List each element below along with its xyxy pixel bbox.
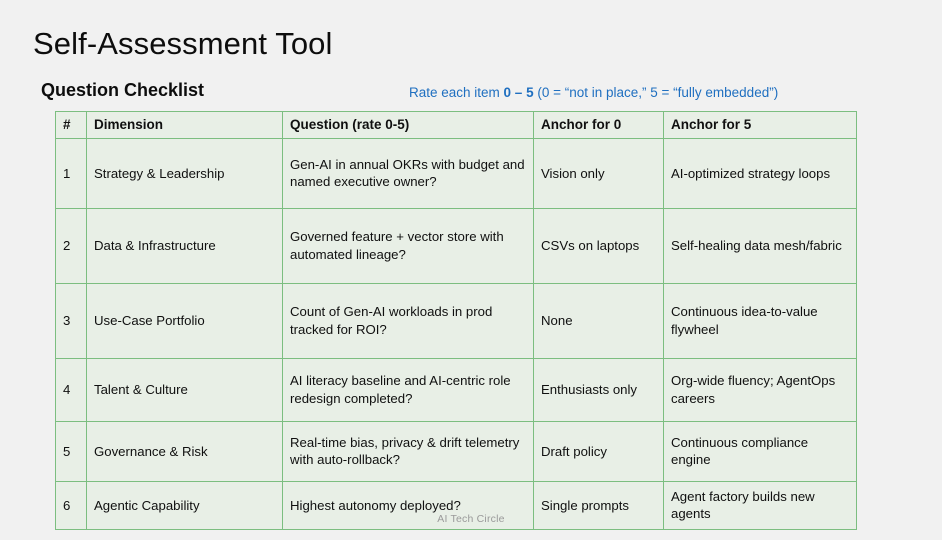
cell-anchor-0: CSVs on laptops <box>534 208 664 283</box>
rating-instruction-range: 0 – 5 <box>504 85 534 100</box>
cell-question: Governed feature + vector store with aut… <box>283 208 534 283</box>
cell-dimension: Data & Infrastructure <box>87 208 283 283</box>
rating-instruction-suffix: (0 = “not in place,” 5 = “fully embedded… <box>534 85 779 100</box>
column-header-anchor-0: Anchor for 0 <box>534 112 664 139</box>
table-row: 5 Governance & Risk Real-time bias, priv… <box>56 421 857 481</box>
cell-dimension: Talent & Culture <box>87 358 283 421</box>
cell-number: 3 <box>56 283 87 358</box>
cell-number: 5 <box>56 421 87 481</box>
rating-instruction: Rate each item 0 – 5 (0 = “not in place,… <box>409 85 778 100</box>
cell-anchor-5: AI-optimized strategy loops <box>664 138 857 208</box>
cell-dimension: Governance & Risk <box>87 421 283 481</box>
table-row: 2 Data & Infrastructure Governed feature… <box>56 208 857 283</box>
slide-footer: AI Tech Circle <box>0 513 942 525</box>
cell-question: Gen-AI in annual OKRs with budget and na… <box>283 138 534 208</box>
table-header-row: # Dimension Question (rate 0-5) Anchor f… <box>56 112 857 139</box>
cell-anchor-5: Self-healing data mesh/fabric <box>664 208 857 283</box>
cell-number: 4 <box>56 358 87 421</box>
cell-anchor-0: Draft policy <box>534 421 664 481</box>
slide-canvas: Self-Assessment Tool Question Checklist … <box>0 0 942 540</box>
cell-question: Count of Gen-AI workloads in prod tracke… <box>283 283 534 358</box>
cell-question: Real-time bias, privacy & drift telemetr… <box>283 421 534 481</box>
question-checklist-table: # Dimension Question (rate 0-5) Anchor f… <box>55 111 857 530</box>
column-header-anchor-5: Anchor for 5 <box>664 112 857 139</box>
cell-dimension: Strategy & Leadership <box>87 138 283 208</box>
table-row: 1 Strategy & Leadership Gen-AI in annual… <box>56 138 857 208</box>
cell-anchor-5: Org-wide fluency; AgentOps careers <box>664 358 857 421</box>
cell-number: 1 <box>56 138 87 208</box>
cell-anchor-0: Vision only <box>534 138 664 208</box>
rating-instruction-prefix: Rate each item <box>409 85 504 100</box>
column-header-question: Question (rate 0-5) <box>283 112 534 139</box>
column-header-dimension: Dimension <box>87 112 283 139</box>
cell-anchor-0: Enthusiasts only <box>534 358 664 421</box>
table-row: 4 Talent & Culture AI literacy baseline … <box>56 358 857 421</box>
cell-dimension: Use-Case Portfolio <box>87 283 283 358</box>
cell-number: 2 <box>56 208 87 283</box>
cell-question: AI literacy baseline and AI-centric role… <box>283 358 534 421</box>
section-title: Question Checklist <box>41 80 204 101</box>
table-row: 3 Use-Case Portfolio Count of Gen-AI wor… <box>56 283 857 358</box>
cell-anchor-0: None <box>534 283 664 358</box>
cell-anchor-5: Continuous idea-to-value flywheel <box>664 283 857 358</box>
page-title: Self-Assessment Tool <box>33 26 333 62</box>
column-header-number: # <box>56 112 87 139</box>
cell-anchor-5: Continuous compliance engine <box>664 421 857 481</box>
